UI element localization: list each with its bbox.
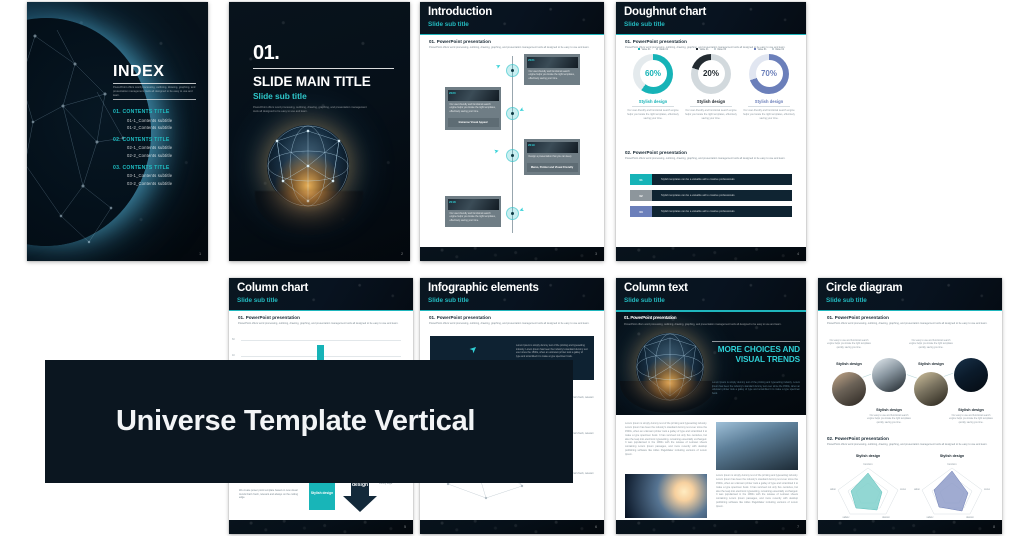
slide-subtitle: Slide sub title [428, 21, 469, 28]
timeline-card[interactable]: 2021 Our user-friendly and functional se… [524, 54, 580, 85]
header-accent-bar [229, 310, 413, 311]
donut-value: 60% [645, 69, 661, 78]
legend-entry: Value 02 [772, 48, 784, 51]
slide-footer: 8 [818, 520, 1002, 534]
footer-background [420, 520, 604, 534]
text-column: Lorem Ipsum is simply dummy text of the … [716, 474, 798, 509]
timeline-node[interactable] [506, 207, 519, 220]
timeline-text: Design a presentation that you can keep [527, 153, 578, 161]
donut-text: Our user-friendly and functional search … [742, 109, 796, 121]
section-text: PowerPoint offers word processing, outli… [429, 46, 595, 50]
slide-header: Column chart Slide sub title [229, 278, 413, 311]
timeline-node[interactable] [506, 107, 519, 120]
circle-image [832, 372, 866, 406]
legend-entry: Value 01 [696, 48, 708, 51]
index-rule-top [113, 83, 196, 84]
index-group: 03. CONTENTS TITLE 03-1_Contents subtitl… [113, 165, 196, 186]
index-group-item: 02-1_Contents subtitle [127, 145, 196, 150]
table-row[interactable]: 01 Stylish templates can be a valuable a… [630, 174, 792, 185]
main-title-content: 01. SLIDE MAIN TITLE Slide sub title Pow… [253, 44, 394, 114]
timeline-text: Our user-friendly and functional search … [448, 101, 499, 116]
circle-image [954, 358, 988, 392]
section-heading: 01. PowerPoint presentation [429, 39, 595, 44]
section-heading: 02. PowerPoint presentation [827, 436, 993, 441]
slide-thumbnail-column-text[interactable]: MORE CHOICES AND VISUAL TRENDS Lorem Ips… [616, 278, 806, 534]
slide-thumbnail-index[interactable]: INDEX PowerPoint offers word processing,… [27, 2, 208, 261]
index-title: INDEX [113, 64, 196, 80]
section-heading: 01. PowerPoint presentation [429, 315, 595, 320]
index-group-item: 03-1_Contents subtitle [127, 173, 196, 178]
hand-silhouette [255, 191, 363, 235]
index-group-heading: 01. CONTENTS TITLE [113, 109, 196, 115]
donut-hole: 70% [756, 60, 783, 87]
slide-footer: 6 [420, 520, 604, 534]
hero-image-area: MORE CHOICES AND VISUAL TRENDS Lorem Ips… [616, 311, 806, 415]
page-number: 8 [993, 525, 995, 529]
table-row[interactable]: 03 Stylish templates can be a valuable a… [630, 206, 792, 217]
radar-chart-1: function convenience design safety trans… [830, 462, 906, 518]
title-overlay-banner: Universe Template Vertical [45, 360, 573, 483]
circle-text: Our easy to use and functional search en… [909, 340, 953, 350]
page-number: 5 [404, 525, 406, 529]
section-text: PowerPoint offers word processing, outli… [238, 322, 404, 326]
timeline-card[interactable]: 2019 Design a presentation that you can … [524, 139, 580, 175]
slide-title: Column chart [237, 282, 308, 294]
section-heading: 01. PowerPoint presentation [625, 39, 797, 44]
donut-chart: 60% [633, 54, 673, 94]
row-number: 01 [630, 174, 652, 185]
donut-text: Our user-friendly and functional search … [684, 109, 738, 121]
section-text: PowerPoint offers word processing, outli… [625, 157, 797, 161]
donut-title: Stylish design [742, 99, 796, 106]
circle-title: Stylish design [827, 362, 871, 366]
slide-header: Infographic elements Slide sub title [420, 278, 604, 311]
section-text: PowerPoint offers word processing, outli… [827, 443, 993, 447]
circle-text: Our easy to use and functional search en… [949, 415, 993, 425]
index-content: INDEX PowerPoint offers word processing,… [113, 64, 196, 193]
radar-title: Stylish design [830, 454, 906, 458]
section-block: 02. PowerPoint presentation PowerPoint o… [827, 436, 993, 447]
main-subtitle: Slide sub title [253, 91, 394, 101]
slide-thumbnail-doughnut-chart[interactable]: Doughnut chart Slide sub title 01. Power… [616, 2, 806, 261]
card-body: Lorem Ipsum is simply dummy text of the … [516, 344, 588, 358]
donut-rule [748, 106, 790, 107]
section-block: 01. PowerPoint presentation PowerPoint o… [238, 315, 404, 326]
slide-footer: 7 [616, 520, 806, 534]
row-number: 02 [630, 190, 652, 201]
index-group-item: 03-2_Contents subtitle [127, 181, 196, 186]
hero-headline: MORE CHOICES AND VISUAL TRENDS [712, 345, 800, 365]
row-text: Stylish templates can be a valuable aid … [652, 190, 792, 201]
index-group-heading: 03. CONTENTS TITLE [113, 165, 196, 171]
header-accent-bar [420, 310, 604, 311]
circle-title: Stylish design [867, 408, 911, 412]
timeline-text: Our user-friendly and functional search … [527, 68, 578, 83]
timeline-node[interactable] [506, 64, 519, 77]
footer-background [420, 247, 604, 261]
slide-title: Introduction [428, 6, 492, 18]
circle-text: Our easy to use and functional search en… [867, 415, 911, 425]
svg-text:convenience: convenience [984, 487, 990, 491]
index-group-item: 01-1_Contents subtitle [127, 118, 196, 123]
row-text: Stylish templates can be a valuable aid … [652, 206, 792, 217]
donut-title: Stylish design [626, 99, 680, 106]
footer-background [229, 520, 413, 534]
section-text: PowerPoint offers word processing, outli… [624, 323, 798, 327]
index-group: 01. CONTENTS TITLE 01-1_Contents subtitl… [113, 109, 196, 130]
timeline-year: 2021 [528, 58, 535, 62]
row-text: Stylish templates can be a valuable aid … [652, 174, 792, 185]
donut-legend: Value 01 Value 02 [626, 48, 680, 51]
slide-title: Doughnut chart [624, 6, 706, 18]
slide-subtitle: Slide sub title [624, 297, 665, 304]
slide-header: Doughnut chart Slide sub title [616, 2, 806, 35]
header-accent-bar [818, 310, 1002, 311]
section-heading: 01. PowerPoint presentation [238, 315, 404, 320]
radar-title: Stylish design [914, 454, 990, 458]
section-block: 01. PowerPoint presentation PowerPoint o… [429, 315, 595, 326]
donut-legend: Value 01 Value 02 [742, 48, 796, 51]
circle-title: Stylish design [909, 362, 953, 366]
donut-group: Value 01 Value 02 20% Stylish design Our… [684, 48, 738, 121]
index-lede: PowerPoint offers word processing, outli… [113, 86, 196, 97]
slide-thumbnail-circle-diagram[interactable]: Circle diagram Slide sub title 01. Power… [818, 278, 1002, 534]
header-accent-bar [616, 34, 806, 35]
slide-title: Column text [624, 282, 688, 294]
rocket-icon: ➤ [518, 205, 525, 213]
page-number: 7 [797, 525, 799, 529]
page-number: 2 [401, 252, 403, 256]
radar-chart-2: function convenience design safety trans… [914, 462, 990, 518]
donut-value: 70% [761, 69, 777, 78]
table-row[interactable]: 02 Stylish templates can be a valuable a… [630, 190, 792, 201]
slide-footer: 3 [420, 247, 604, 261]
slide-footer: 4 [616, 247, 806, 261]
donut-rule [632, 106, 674, 107]
donut-chart: 20% [691, 54, 731, 94]
section-block: 01. PowerPoint presentation PowerPoint o… [827, 315, 993, 326]
svg-text:safety: safety [843, 515, 851, 518]
row-number: 03 [630, 206, 652, 217]
timeline-year: 2018 [449, 200, 456, 204]
donut-title: Stylish design [684, 99, 738, 106]
rocket-icon: ➤ [493, 147, 500, 155]
timeline-card[interactable]: 2020 Our user-friendly and functional se… [445, 87, 501, 130]
slide-subtitle: Slide sub title [237, 297, 278, 304]
rocket-icon: ➤ [518, 105, 526, 114]
index-group-item: 01-2_Contents subtitle [127, 125, 196, 130]
svg-text:convenience: convenience [900, 487, 906, 491]
timeline-year: 2019 [528, 143, 535, 147]
svg-text:design: design [882, 515, 890, 518]
rocket-icon: ➤ [495, 62, 503, 71]
slide-header: Circle diagram Slide sub title [818, 278, 1002, 311]
title-rule [253, 68, 394, 69]
circle-image [872, 358, 906, 392]
donut-group: Value 01 Value 02 60% Stylish design Our… [626, 48, 680, 121]
timeline-subcard: Memo, Pointer and Visual Friendly [527, 163, 578, 173]
svg-text:transportation: transportation [830, 487, 837, 491]
footer-background [616, 247, 806, 261]
satellite-dish-image [716, 422, 798, 470]
main-body-text: PowerPoint offers word processing, outli… [253, 106, 371, 114]
page-number: 1 [199, 252, 201, 256]
slide-header: Column text Slide sub title [616, 278, 806, 311]
index-group: 02. CONTENTS TITLE 02-1_Contents subtitl… [113, 137, 196, 158]
legend-entry: Value 02 [714, 48, 726, 51]
slide-title: Circle diagram [826, 282, 902, 294]
section-block: 02. PowerPoint presentation PowerPoint o… [625, 150, 797, 161]
section-heading: 02. PowerPoint presentation [625, 150, 797, 155]
slide-subtitle: Slide sub title [826, 297, 867, 304]
section-heading: 01. PowerPoint presentation [624, 315, 676, 320]
slide-footer: 5 [229, 520, 413, 534]
svg-text:design: design [966, 515, 974, 518]
circle-text: Our easy to use and functional search en… [827, 340, 871, 350]
hand-silhouette [620, 381, 716, 413]
hand-holding-orb-graphic [620, 333, 720, 413]
timeline-node[interactable] [506, 149, 519, 162]
bottom-note: We create power point template based on … [239, 487, 301, 500]
svg-text:function: function [947, 462, 957, 466]
section-text: PowerPoint offers word processing, outli… [429, 322, 595, 326]
slide-header: Introduction Slide sub title [420, 2, 604, 35]
text-column: Lorem Ipsum is simply dummy text of the … [625, 422, 707, 457]
hero-text: Lorem Ipsum is simply dummy text of the … [712, 381, 800, 395]
overlay-title: Universe Template Vertical [116, 405, 475, 438]
timeline-card[interactable]: 2018 Our user-friendly and functional se… [445, 196, 501, 227]
svg-text:safety: safety [927, 515, 935, 518]
slide-subtitle: Slide sub title [624, 21, 665, 28]
gallery-canvas: INDEX PowerPoint offers word processing,… [0, 0, 1024, 536]
timeline-text: Our user-friendly and functional search … [448, 210, 499, 225]
svg-text:transportation: transportation [914, 487, 921, 491]
circle-image [914, 372, 948, 406]
donut-legend: Value 01 Value 02 [684, 48, 738, 51]
header-accent-bar [420, 34, 604, 35]
page-number: 3 [595, 252, 597, 256]
donut-hole: 60% [640, 60, 667, 87]
timeline-subcard: Immense Visual Appeal [448, 118, 499, 128]
slide-number: 01. [253, 44, 394, 63]
slide-thumbnail-introduction[interactable]: Introduction Slide sub title 01. PowerPo… [420, 2, 604, 261]
headline-rule [712, 341, 800, 342]
page-number: 4 [797, 252, 799, 256]
legend-entry: Value 01 [754, 48, 766, 51]
donut-text: Our user-friendly and functional search … [626, 109, 680, 121]
earth-sunrise-image [625, 474, 707, 518]
section-text: PowerPoint offers word processing, outli… [827, 322, 993, 326]
timeline-year: 2020 [449, 91, 456, 95]
slide-thumbnail-main-title[interactable]: 01. SLIDE MAIN TITLE Slide sub title Pow… [229, 2, 410, 261]
rocket-icon: ➤ [467, 343, 480, 356]
legend-entry: Value 02 [656, 48, 668, 51]
donut-chart: 70% [749, 54, 789, 94]
header-accent-bar [616, 310, 806, 311]
hand-holding-orb-graphic [251, 123, 367, 235]
svg-text:function: function [863, 462, 873, 466]
main-title: SLIDE MAIN TITLE [253, 75, 394, 89]
section-heading: 01. PowerPoint presentation [827, 315, 993, 320]
section-block: 01. PowerPoint presentation PowerPoint o… [429, 39, 595, 50]
circle-title: Stylish design [949, 408, 993, 412]
index-group-item: 02-2_Contents subtitle [127, 153, 196, 158]
legend-entry: Value 01 [638, 48, 650, 51]
donut-group: Value 01 Value 02 70% Stylish design Our… [742, 48, 796, 121]
footer-background [616, 520, 806, 534]
donut-rule [690, 106, 732, 107]
slide-subtitle: Slide sub title [428, 297, 469, 304]
page-number: 6 [595, 525, 597, 529]
index-rule-bottom [113, 99, 196, 100]
donut-hole: 20% [698, 60, 725, 87]
footer-background [818, 520, 1002, 534]
slide-title: Infographic elements [428, 282, 539, 294]
index-group-heading: 02. CONTENTS TITLE [113, 137, 196, 143]
donut-value: 20% [703, 69, 719, 78]
